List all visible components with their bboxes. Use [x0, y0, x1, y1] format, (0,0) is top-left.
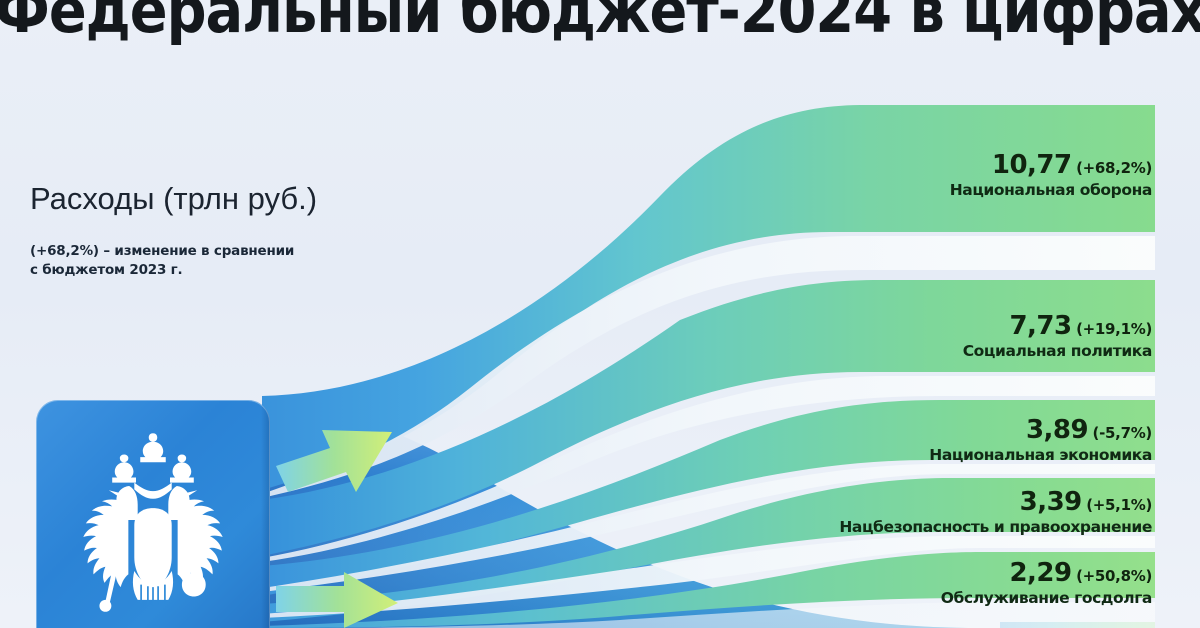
page-title: Федеральный бюджет-2024 в цифрах — [0, 0, 1200, 42]
legend-note: (+68,2%) – изменение в сравнении с бюдже… — [30, 242, 350, 280]
russian-coat-of-arms-icon — [68, 425, 238, 615]
infographic-canvas: Расходы (трлн руб.) (+68,2%) – изменение… — [0, 0, 1200, 628]
band-delta-2: (+19,1%) — [1076, 320, 1152, 338]
band-label-4: 3,39 (+5,1%) Нацбезопасность и правоохра… — [839, 489, 1152, 536]
band-label-1: 10,77 (+68,2%) Национальная оборона — [950, 152, 1152, 199]
band-delta-1: (+68,2%) — [1076, 159, 1152, 177]
legend-note-line-2: с бюджетом 2023 г. — [30, 261, 350, 280]
budget-emblem-card — [36, 400, 270, 628]
band-label-2: 7,73 (+19,1%) Социальная политика — [963, 313, 1152, 360]
band-value-1: 10,77 — [992, 150, 1072, 180]
band-name-5: Обслуживание госдолга — [941, 590, 1152, 606]
band-delta-4: (+5,1%) — [1086, 496, 1152, 514]
band-label-3: 3,89 (-5,7%) Национальная экономика — [929, 417, 1152, 464]
band-name-4: Нацбезопасность и правоохранение — [839, 519, 1152, 535]
band-value-4: 3,39 — [1020, 487, 1082, 517]
legend-note-line-1: (+68,2%) – изменение в сравнении — [30, 242, 350, 261]
band-name-1: Национальная оборона — [950, 182, 1152, 198]
title-bar: Федеральный бюджет-2024 в цифрах — [0, 0, 1200, 50]
band-value-2: 7,73 — [1009, 311, 1071, 341]
band-value-3: 3,89 — [1026, 415, 1088, 445]
band-delta-5: (+50,8%) — [1076, 567, 1152, 585]
band-name-2: Социальная политика — [963, 343, 1152, 359]
left-panel: Расходы (трлн руб.) (+68,2%) – изменение… — [30, 180, 410, 280]
band-value-5: 2,29 — [1009, 558, 1071, 588]
band-label-5: 2,29 (+50,8%) Обслуживание госдолга — [941, 560, 1152, 607]
page-subtitle: Расходы (трлн руб.) — [30, 180, 410, 218]
band-delta-3: (-5,7%) — [1093, 424, 1152, 442]
band-name-3: Национальная экономика — [929, 447, 1152, 463]
